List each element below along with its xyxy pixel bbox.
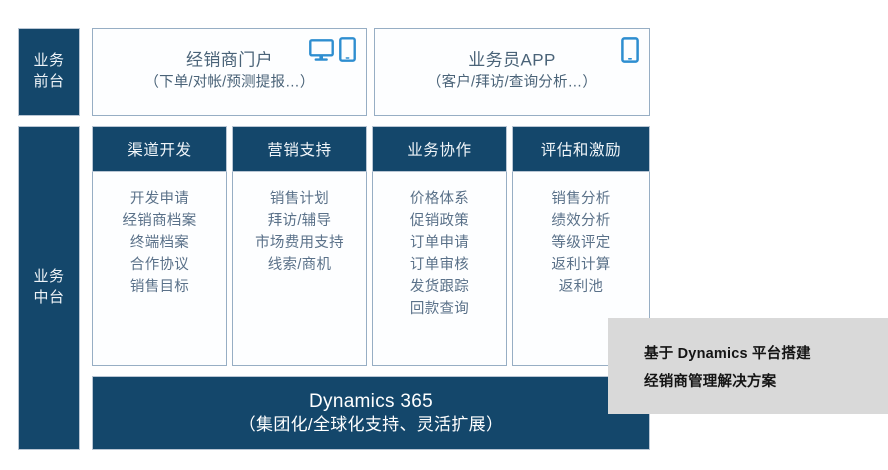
front-office-card-dealer-portal[interactable]: 经销商门户 （下单/对帐/预测提报…） [92,28,367,116]
pillar-header: 营销支持 [232,126,367,172]
pillar-item: 订单审核 [373,254,506,276]
tier-label-middle-office: 业务 中台 [18,126,80,450]
pillar-item: 经销商档案 [93,210,226,232]
pillar-item: 合作协议 [93,254,226,276]
pillar-header: 业务协作 [372,126,507,172]
pillar-business-collaboration[interactable]: 业务协作 价格体系 促销政策 订单申请 订单审核 发货跟踪 回款查询 [372,126,507,366]
pillar-item-list: 开发申请 经销商档案 终端档案 合作协议 销售目标 [92,172,227,366]
pillar-item: 订单申请 [373,232,506,254]
pillar-item: 返利计算 [513,254,649,276]
pillar-item-list: 销售计划 拜访/辅导 市场费用支持 线索/商机 [232,172,367,366]
pillar-item: 拜访/辅导 [233,210,366,232]
sales-rep-app-title: 业务员APP [375,49,649,71]
tier-label-front-office-text: 业务 前台 [33,51,64,92]
pillar-item: 返利池 [513,276,649,298]
pillar-item-list: 价格体系 促销政策 订单申请 订单审核 发货跟踪 回款查询 [372,172,507,366]
pillar-item: 销售计划 [233,188,366,210]
pillar-channel-development[interactable]: 渠道开发 开发申请 经销商档案 终端档案 合作协议 销售目标 [92,126,227,366]
pillar-item: 终端档案 [93,232,226,254]
callout-line-1: 基于 Dynamics 平台搭建 [644,340,888,368]
dealer-portal-title: 经销商门户 [93,49,366,71]
pillar-marketing-support[interactable]: 营销支持 销售计划 拜访/辅导 市场费用支持 线索/商机 [232,126,367,366]
callout-line-2: 经销商管理解决方案 [644,368,888,396]
tier-label-middle-office-text: 业务 中台 [33,267,64,308]
pillar-item: 开发申请 [93,188,226,210]
sales-rep-app-subtitle: （客户/拜访/查询分析…） [375,73,649,93]
pillar-item: 市场费用支持 [233,232,366,254]
sales-rep-app-text-block: 业务员APP （客户/拜访/查询分析…） [375,49,649,93]
tier-label-front-office: 业务 前台 [18,28,80,116]
callout-box: 基于 Dynamics 平台搭建 经销商管理解决方案 [608,318,888,414]
pillar-item: 绩效分析 [513,210,649,232]
pillar-item: 等级评定 [513,232,649,254]
front-office-card-sales-rep-app[interactable]: 业务员APP （客户/拜访/查询分析…） [374,28,650,116]
platform-bar-dynamics-365[interactable]: Dynamics 365 （集团化/全球化支持、灵活扩展） [92,376,650,450]
pillar-item: 价格体系 [373,188,506,210]
pillar-item: 回款查询 [373,298,506,320]
dealer-portal-text-block: 经销商门户 （下单/对帐/预测提报…） [93,49,366,93]
pillar-header: 评估和激励 [512,126,650,172]
architecture-diagram: 业务 前台 业务 中台 经销商门户 （下单/对帐/预测提报…） [0,0,888,470]
platform-subtitle: （集团化/全球化支持、灵活扩展） [239,414,504,436]
pillar-item: 线索/商机 [233,254,366,276]
pillar-item: 促销政策 [373,210,506,232]
pillar-header: 渠道开发 [92,126,227,172]
pillar-item: 销售分析 [513,188,649,210]
platform-title: Dynamics 365 [309,390,433,414]
dealer-portal-subtitle: （下单/对帐/预测提报…） [93,73,366,93]
pillar-item: 销售目标 [93,276,226,298]
pillar-item: 发货跟踪 [373,276,506,298]
